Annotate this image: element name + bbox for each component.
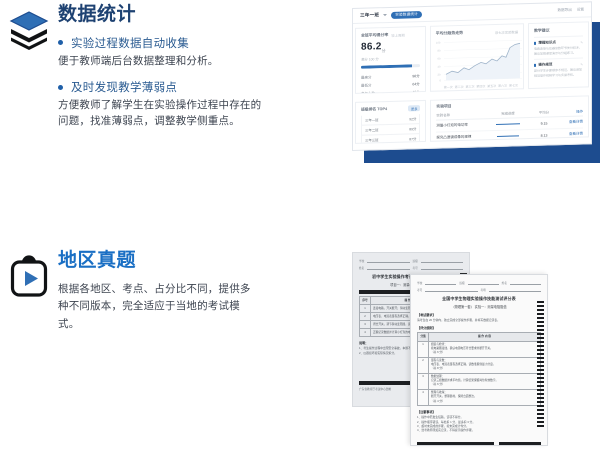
fill-in-row: 学校 班级 姓名 <box>417 280 541 285</box>
cell-line: （共 4 分） <box>431 400 538 404</box>
cell-score: 8.13 <box>531 133 557 138</box>
trend-chart-card: 平均分趋势走势 近七次实验数据 10 <box>430 23 524 92</box>
kpi-stat-value: 98分 <box>412 74 419 79</box>
cell-num: 1 <box>360 305 371 313</box>
x-tick: 第二次 <box>455 85 464 89</box>
experiment-table-card: 实验项目 实验名称 完成进度 平均分 操作 测量小灯泡的电功率 9.15 查看详… <box>430 95 589 141</box>
cell-num: 3 <box>360 321 371 329</box>
progress-bar <box>496 123 520 125</box>
cell-progress <box>485 122 531 127</box>
icon-column <box>0 250 58 300</box>
chevron-down-icon[interactable] <box>383 14 387 16</box>
fill-label: 姓名 <box>359 266 364 270</box>
status-badge: 实验数据统计 <box>391 11 422 19</box>
requirements-body: 请考生在 20 分钟内，独立完成全部操作步骤，并填写数据记录表。 <box>417 318 541 322</box>
advice-item: 薄弱知识点 ✎ 电路连接与仪器读数环节失分较多，建议加强课堂演示与分组练习。 <box>534 36 583 59</box>
bullet-dot-icon <box>58 40 63 45</box>
rank-score: 92分 <box>409 116 416 121</box>
table-row: 4 整理与收尾： 断开开关，整理器材，保持台面整洁。 （共 4 分） <box>418 389 541 405</box>
bullet-dot-icon <box>58 85 63 90</box>
bullet-body: 方便教师了解学生在实验操作过程中存在的问题，找准薄弱点，调整教学侧重点。 <box>58 97 266 130</box>
advice-item-title: 薄弱知识点 <box>538 40 556 45</box>
edit-pencil-icon[interactable]: ✎ <box>580 40 583 44</box>
column-header: 序号 <box>360 297 371 305</box>
cell-line: （共 6 分） <box>431 383 538 387</box>
kpi-card: 全班平均得分率 较上周期 86.2分 满分 100 分 最高分 98分 最低分 … <box>355 26 426 94</box>
kpi-stat-key: 参与人数 <box>361 91 375 94</box>
svg-text:100: 100 <box>436 41 441 45</box>
icon-column <box>0 4 58 50</box>
dashboard-row-bottom: 班级排名 TOP4 更多 三年一班 92分 三年二班 89分 三年三班 87分 … <box>353 91 591 148</box>
kpi-progress-bar <box>361 64 420 69</box>
document-subtitle: （物理第一套） 实验一：测量电阻阻值 <box>417 304 541 309</box>
layers-stack-icon <box>8 8 50 50</box>
bullet-item: 实验过程数据自动收集 便于教师端后台数据整理和分析。 <box>58 35 340 69</box>
dashboard-row-top: 全班平均得分率 较上周期 86.2分 满分 100 分 最高分 98分 最低分 … <box>353 17 591 98</box>
kpi-number: 86.2 <box>361 41 382 53</box>
fill-blank <box>425 287 477 292</box>
bullet-heading: 及时发现教学薄弱点 <box>71 79 177 95</box>
fill-blank <box>421 258 463 263</box>
bullet-heading-row: 及时发现教学薄弱点 <box>58 79 340 95</box>
dashboard-window: 三年一班 实验数据统计 数据导出 设置 全班平均得分率 较上周期 86.2分 满… <box>352 1 592 151</box>
scoring-table: 分值 操 作 内 容 1 组装与检查： 按电路图接线，确认电源电压符合要求并断开… <box>417 332 541 406</box>
barcode-strip <box>537 301 544 429</box>
x-tick: 第一次 <box>444 85 453 89</box>
chart-title: 平均分趋势走势 <box>436 30 463 37</box>
text-column: 数据统计 实验过程数据自动收集 便于教师端后台数据整理和分析。 及时发现教学薄弱… <box>58 4 340 140</box>
x-tick: 第四次 <box>476 84 485 88</box>
fill-blank <box>367 258 409 263</box>
x-tick: 第三次 <box>466 85 475 89</box>
fill-label: 班级 <box>413 259 418 263</box>
bullet-body: 便于教师端后台数据整理和分析。 <box>58 53 340 69</box>
chart-x-axis: 第一次 第二次 第三次 第四次 第五次 第六次 第七次 <box>436 83 518 89</box>
teaching-advice-card: 教学建议 薄弱知识点 ✎ 电路连接与仪器读数环节失分较多，建议加强课堂演示与分组… <box>528 21 589 89</box>
fill-in-row: 姓名 考号 <box>359 265 463 270</box>
column-header: 完成进度 <box>485 110 531 116</box>
fill-blank <box>489 287 541 292</box>
fill-blank <box>421 265 463 270</box>
chart-plot-area: 1008060 40200 第一次 第二次 第三次 第四次 第五次 第六次 第七… <box>436 36 518 90</box>
exam-paper-front: 学校 班级 姓名 考号 考场 全国中学生物理实验操作技能测试评分表 （物理第一套… <box>410 274 548 446</box>
fill-label: 考场 <box>481 288 486 292</box>
fill-blank <box>367 265 409 270</box>
kpi-stat-value: 64分 <box>412 82 419 87</box>
export-button[interactable]: 数据导出 <box>557 7 571 12</box>
svg-text:20: 20 <box>437 73 440 77</box>
x-tick: 第七次 <box>509 83 518 87</box>
tail-note: 4．监考教师须如实记录，不得提示操作步骤。 <box>417 428 541 432</box>
advice-title: 教学建议 <box>534 27 583 34</box>
fill-label: 考号 <box>413 266 418 270</box>
rank-row[interactable]: 三年三班 87分 <box>361 134 420 144</box>
document-title: 全国中学生物理实验操作技能测试评分表 <box>417 296 541 302</box>
table-row: 2 量程与读数： 电压表、电流表量程选择正确，读数准确到最小分度。 （共 8 分… <box>418 357 541 373</box>
rank-name: 三年三班 <box>365 137 379 142</box>
bullet-square-icon <box>534 42 536 44</box>
fill-label: 学校 <box>417 281 422 285</box>
chart-header: 平均分趋势走势 近七次实验数据 <box>436 28 518 36</box>
column-header: 操作 <box>557 109 583 115</box>
settings-button[interactable]: 设置 <box>577 7 584 12</box>
kpi-stat-key: 最低分 <box>361 84 372 89</box>
column-header: 分值 <box>418 333 429 341</box>
rules-title: 【评分细则】 <box>417 325 541 330</box>
dashboard-mockup-image: 三年一班 实验数据统计 数据导出 设置 全班平均得分率 较上周期 86.2分 满… <box>352 8 600 163</box>
rank-header: 班级排名 TOP4 更多 <box>361 105 420 113</box>
cell-score: 9.15 <box>531 121 557 126</box>
svg-text:60: 60 <box>437 57 440 61</box>
rank-score: 89分 <box>409 126 416 131</box>
cell-text: 数据处理： 记录三组数据并求平均值，计算结果保留两位有效数字。 （共 6 分） <box>429 373 541 389</box>
page-title: 数据统计 <box>58 4 340 26</box>
chart-area-fill <box>446 43 520 80</box>
kpi-stat-row: 参与人数 42人 <box>361 89 420 94</box>
bullet-item: 及时发现教学薄弱点 方便教师了解学生在实验操作过程中存在的问题，找准薄弱点，调整… <box>58 79 340 130</box>
advice-item-desc: 电路连接与仪器读数环节失分较多，建议加强课堂演示与分组练习。 <box>534 46 583 56</box>
tail-title: 【注意事项】 <box>417 409 541 414</box>
bullet-heading: 实验过程数据自动收集 <box>71 35 189 51</box>
kpi-label-sub: 较上周期 <box>391 32 405 37</box>
kpi-unit: 分 <box>382 48 386 53</box>
kpi-value: 86.2分 <box>361 40 420 55</box>
bullet-square-icon <box>534 64 536 66</box>
edit-pencil-icon[interactable]: ✎ <box>580 62 583 66</box>
progress-bar <box>497 135 520 137</box>
section-regional-exam-papers: 地区真题 根据各地区、考点、占分比不同，提供多种不同版本，完全适应于当地的考试模… <box>0 250 310 334</box>
x-tick: 第五次 <box>487 84 496 88</box>
class-selector-label[interactable]: 三年一班 <box>360 12 379 19</box>
clipboard-play-icon <box>8 254 50 300</box>
svg-text:40: 40 <box>437 65 440 69</box>
section-data-statistics: 数据统计 实验过程数据自动收集 便于教师端后台数据整理和分析。 及时发现教学薄弱… <box>0 4 340 140</box>
column-header: 平均分 <box>531 109 557 115</box>
kpi-subtext: 满分 100 分 <box>361 55 420 62</box>
cell-num: 4 <box>418 389 429 405</box>
kpi-label: 全班平均得分率 <box>361 32 388 39</box>
cell-num: 1 <box>418 341 429 357</box>
more-button[interactable]: 更多 <box>408 105 420 111</box>
rank-title: 班级排名 TOP4 <box>361 107 387 113</box>
class-rank-card: 班级排名 TOP4 更多 三年一班 92分 三年二班 89分 三年三班 87分 … <box>355 100 426 144</box>
svg-text:80: 80 <box>437 49 440 53</box>
cell-num: 2 <box>360 313 371 321</box>
fill-blank <box>468 280 499 285</box>
footer-bar <box>417 442 541 446</box>
kpi-label-row: 全班平均得分率 较上周期 <box>361 31 420 39</box>
cell-action[interactable]: 查看详情 <box>557 132 583 138</box>
fill-blank <box>425 280 456 285</box>
rank-score: 87分 <box>409 136 416 141</box>
fill-blank <box>510 280 541 285</box>
cell-num: 4 <box>360 329 371 337</box>
trend-line-chart: 1008060 40200 <box>436 36 522 84</box>
requirements-title: 【考试要求】 <box>417 312 541 317</box>
cell-text: 整理与收尾： 断开开关，整理器材，保持台面整洁。 （共 4 分） <box>429 389 541 405</box>
chart-range-label[interactable]: 近七次实验数据 <box>495 29 518 35</box>
exam-paper-mockup-images: 学校 班级 姓名 考号 初中学生实验操作考试评分记录表（物理） 项目一：测量小灯… <box>352 252 602 447</box>
fill-label: 班级 <box>459 281 464 285</box>
cell-line: （共 8 分） <box>431 367 538 371</box>
advice-item-title: 操作规范 <box>538 62 552 67</box>
cell-text: 量程与读数： 电压表、电流表量程选择正确，读数准确到最小分度。 （共 8 分） <box>429 357 541 373</box>
advice-item: 操作规范 ✎ 部分学生步骤顺序不规范，建议增加规范操作视频学习与实操考核。 <box>534 58 583 81</box>
topbar-actions: 数据导出 设置 <box>557 7 584 13</box>
rank-name: 三年一班 <box>365 117 379 122</box>
x-tick: 第六次 <box>498 84 507 88</box>
svg-text:0: 0 <box>439 79 441 83</box>
fill-label: 姓名 <box>502 281 507 285</box>
cell-num: 2 <box>418 357 429 373</box>
cell-num: 3 <box>418 373 429 389</box>
rank-name: 三年二班 <box>365 127 379 132</box>
fill-in-row: 考号 考场 <box>417 287 541 292</box>
cell-name: 测量小灯泡的电功率 <box>436 122 485 128</box>
cell-action[interactable]: 查看详情 <box>557 120 583 126</box>
column-header: 实验名称 <box>436 111 485 117</box>
cell-progress <box>485 134 531 139</box>
fill-in-row: 学校 班级 <box>359 258 463 263</box>
cell-name: 探究凸透镜成像的规律 <box>436 134 485 140</box>
text-column: 地区真题 根据各地区、考点、占分比不同，提供多种不同版本，完全适应于当地的考试模… <box>58 250 310 334</box>
table-row: 3 数据处理： 记录三组数据并求平均值，计算结果保留两位有效数字。 （共 6 分… <box>418 373 541 389</box>
advice-item-desc: 部分学生步骤顺序不规范，建议增加规范操作视频学习与实操考核。 <box>534 68 583 78</box>
cell-text: 组装与检查： 按电路图接线，确认电源电压符合要求并断开开关。 （共 6 分） <box>429 341 541 357</box>
table-row: 1 组装与检查： 按电路图接线，确认电源电压符合要求并断开开关。 （共 6 分） <box>418 341 541 357</box>
kpi-stat-value: 42人 <box>412 90 419 94</box>
column-header: 操 作 内 容 <box>429 333 541 341</box>
fill-label: 学校 <box>359 259 364 263</box>
kpi-stat-key: 最高分 <box>361 76 372 81</box>
section-body: 根据各地区、考点、占分比不同，提供多种不同版本，完全适应于当地的考试模式。 <box>58 281 258 334</box>
cell-line: （共 6 分） <box>431 351 538 355</box>
bullet-heading-row: 实验过程数据自动收集 <box>58 35 340 51</box>
table-header-row: 分值 操 作 内 容 <box>418 333 541 341</box>
page-title: 地区真题 <box>58 250 310 272</box>
fill-label: 考号 <box>417 288 422 292</box>
